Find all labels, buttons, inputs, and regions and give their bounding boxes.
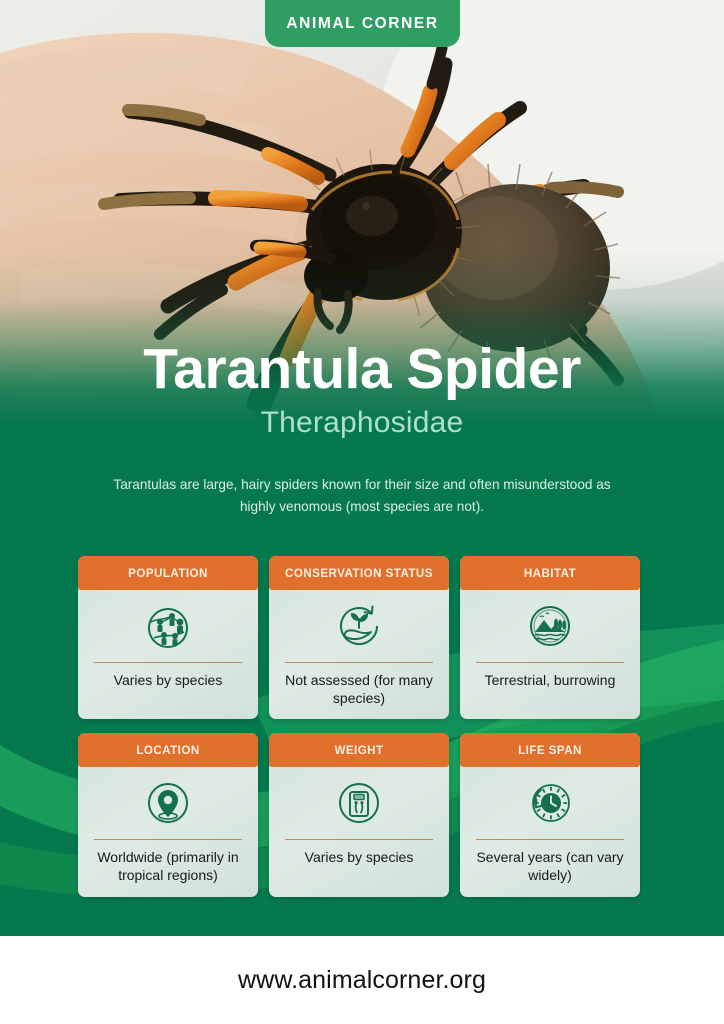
infographic-poster: ANIMAL CORNER Tarantula Spider Theraphos… bbox=[0, 0, 724, 1024]
clock-icon bbox=[460, 767, 640, 839]
species-description: Tarantulas are large, hairy spiders know… bbox=[112, 474, 612, 518]
card-value-habitat: Terrestrial, burrowing bbox=[460, 663, 640, 719]
card-label-population: POPULATION bbox=[128, 567, 208, 580]
card-label-weight: WEIGHT bbox=[334, 744, 383, 757]
fact-card-location[interactable]: LOCATION Worldwide (primarily in tropica… bbox=[78, 733, 258, 896]
fact-card-weight[interactable]: WEIGHT Varies by specie bbox=[269, 733, 449, 896]
landscape-icon bbox=[460, 590, 640, 662]
card-header-weight: WEIGHT bbox=[269, 733, 449, 767]
card-label-life-span: LIFE SPAN bbox=[518, 744, 582, 757]
map-pin-icon bbox=[78, 767, 258, 839]
card-header-location: LOCATION bbox=[78, 733, 258, 767]
fact-card-population[interactable]: POPULATION bbox=[78, 556, 258, 719]
page-title: Tarantula Spider bbox=[0, 340, 724, 400]
weighing-scale-icon bbox=[269, 767, 449, 839]
card-value-life-span: Several years (can vary widely) bbox=[460, 840, 640, 896]
fact-card-habitat[interactable]: HABITAT Te bbox=[460, 556, 640, 719]
hand-plant-icon bbox=[269, 590, 449, 662]
fact-card-grid: POPULATION bbox=[78, 556, 640, 897]
card-header-life-span: LIFE SPAN bbox=[460, 733, 640, 767]
card-header-population: POPULATION bbox=[78, 556, 258, 590]
brand-badge[interactable]: ANIMAL CORNER bbox=[265, 0, 460, 47]
card-label-conservation-status: CONSERVATION STATUS bbox=[285, 567, 433, 580]
population-globe-icon bbox=[78, 590, 258, 662]
fact-card-life-span[interactable]: LIFE SPAN bbox=[460, 733, 640, 896]
card-value-weight: Varies by species bbox=[269, 840, 449, 896]
scientific-name: Theraphosidae bbox=[0, 406, 724, 440]
footer-bar: www.animalcorner.org bbox=[0, 936, 724, 1024]
title-block: Tarantula Spider Theraphosidae bbox=[0, 340, 724, 440]
fact-card-conservation-status[interactable]: CONSERVATION STATUS Not assessed (for ma… bbox=[269, 556, 449, 719]
card-label-location: LOCATION bbox=[136, 744, 199, 757]
card-value-population: Varies by species bbox=[78, 663, 258, 719]
brand-badge-label: ANIMAL CORNER bbox=[286, 15, 438, 33]
card-value-location: Worldwide (primarily in tropical regions… bbox=[78, 840, 258, 896]
card-label-habitat: HABITAT bbox=[524, 567, 576, 580]
card-header-habitat: HABITAT bbox=[460, 556, 640, 590]
card-header-conservation-status: CONSERVATION STATUS bbox=[269, 556, 449, 590]
card-value-conservation-status: Not assessed (for many species) bbox=[269, 663, 449, 719]
website-url[interactable]: www.animalcorner.org bbox=[238, 966, 486, 995]
